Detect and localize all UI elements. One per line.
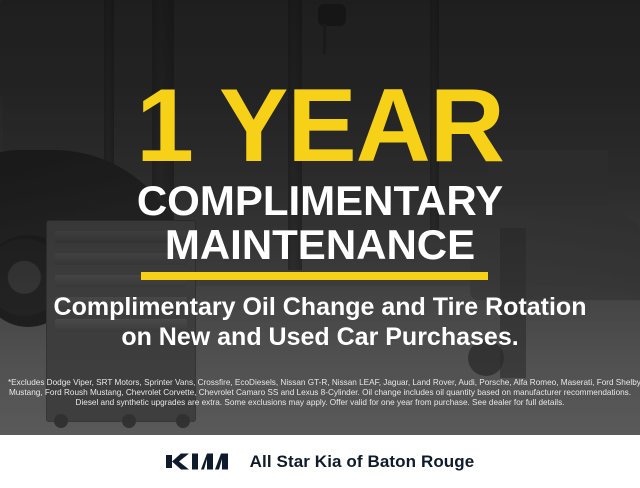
disclaimer-line-2: Mustang, Ford Roush Mustang, Chevrolet C… [8,388,632,398]
footer-bar: All Star Kia of Baton Rouge [0,435,640,488]
subheadline-line-1: Complimentary Oil Change and Tire Rotati… [0,292,640,322]
disclaimer-text: *Excludes Dodge Viper, SRT Motors, Sprin… [0,378,640,409]
disclaimer-line-1: *Excludes Dodge Viper, SRT Motors, Sprin… [8,378,632,388]
disclaimer-line-3: Diesel and synthetic upgrades are extra.… [8,398,632,408]
subheadline-line-2: on New and Used Car Purchases. [0,322,640,352]
headline-year: 1 YEAR [0,74,640,178]
headline-maintenance: MAINTENANCE [0,224,640,266]
promotional-banner: 1 YEAR COMPLIMENTARY MAINTENANCE Complim… [0,0,640,488]
kia-logo [166,451,232,472]
hero-text-content: 1 YEAR COMPLIMENTARY MAINTENANCE Complim… [0,0,640,435]
headline-complimentary: COMPLIMENTARY [0,180,640,222]
hero-section: 1 YEAR COMPLIMENTARY MAINTENANCE Complim… [0,0,640,435]
yellow-divider-rule [141,272,488,280]
dealer-name: All Star Kia of Baton Rouge [250,452,475,472]
